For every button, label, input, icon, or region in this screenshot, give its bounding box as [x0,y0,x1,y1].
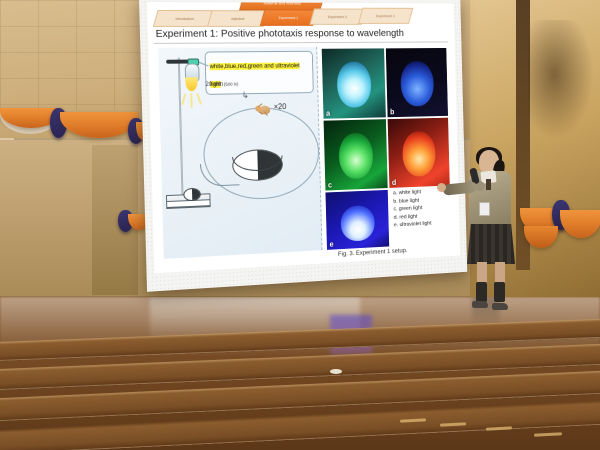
photo-white-light: a [322,48,386,118]
petri-dish-small-icon [183,188,201,202]
lamp-bulb-icon [185,77,198,91]
photo-label-c: c [328,181,332,190]
petri-dish-icon [232,149,281,184]
flask-icon-d [402,131,436,177]
photo-label-d: d [392,178,396,187]
tab-objective-label: objective [231,17,245,21]
tab-introduction[interactable]: Introduction [153,10,216,27]
wall-shadow [528,20,594,140]
diagram-leader-line [200,163,240,187]
legend-item-e: e. ultraviolet light [394,219,454,230]
presenter-sock-left [476,282,487,302]
presenter-name-badge [479,202,490,216]
photo-ultraviolet-light: e [325,190,389,250]
light-ray-icon-1 [181,93,186,105]
presenter-sock-right [494,282,505,302]
floor-object [330,369,342,374]
stage-floor [0,297,600,450]
slide-title: Experiment 1: Positive phototaxis respon… [156,28,404,40]
photo-label-a: a [326,109,330,118]
tab-experiment-3[interactable]: Experiment 3 [358,8,413,24]
tab-experiment-2-label: Experiment 2 [328,15,347,19]
projection-screen: Material and methods Introduction object… [139,0,467,292]
tab-experiment-3-label: Experiment 3 [376,14,395,18]
light-ray-icon-3 [196,93,202,105]
presenter-shoe-left [472,301,488,308]
step-marker-strip-3 [486,426,512,430]
flask-icon-a [337,62,372,108]
curved-arrow-icon: ↳ [241,90,249,101]
presenter-shoe-right [492,303,508,310]
insect-icon [255,103,271,115]
flask-icon-e [340,205,375,242]
presenter-skirt [467,224,515,264]
duration-label: 20 min [205,81,223,88]
presenter [455,150,551,312]
flask-icon-c [338,133,373,180]
photo-label-e: e [329,240,333,249]
tab-material-and-methods-label: Material and methods [263,2,300,6]
presentation-slide: Material and methods Introduction object… [147,2,460,273]
tab-experiment-1-label: Experiment 1 [279,16,299,20]
results-photo-panel: a b c d e [318,46,455,250]
figure-caption: Fig. 3. Experiment 1 setup. [338,247,408,258]
photo-green-light: c [324,119,388,190]
slide-nav-tabs: Material and methods Introduction object… [153,4,451,26]
tab-introduction-label: Introduction [175,16,193,20]
flask-icon-b [400,61,434,107]
presenter-hand [437,183,446,192]
light-condition-callout: white,blue,red,green and ultraviolet lig… [205,51,314,95]
photo-scene: Material and methods Introduction object… [0,0,600,450]
specimen-count-label: ×20 [274,102,287,111]
title-divider [154,41,448,43]
photo-grid: a b c d e [320,48,452,193]
photo-blue-light: b [386,48,448,117]
light-intensity-text: (500 lx) [224,82,239,87]
experiment-setup-diagram: white,blue,red,green and ultraviolet lig… [158,47,322,259]
step-marker-strip-4 [534,432,562,436]
presenter-tie [486,179,491,190]
photo-label-b: b [390,108,394,117]
ring-stand-pole-icon [178,58,184,197]
photo-red-light: d [388,118,450,188]
light-ray-icon-2 [190,93,192,108]
